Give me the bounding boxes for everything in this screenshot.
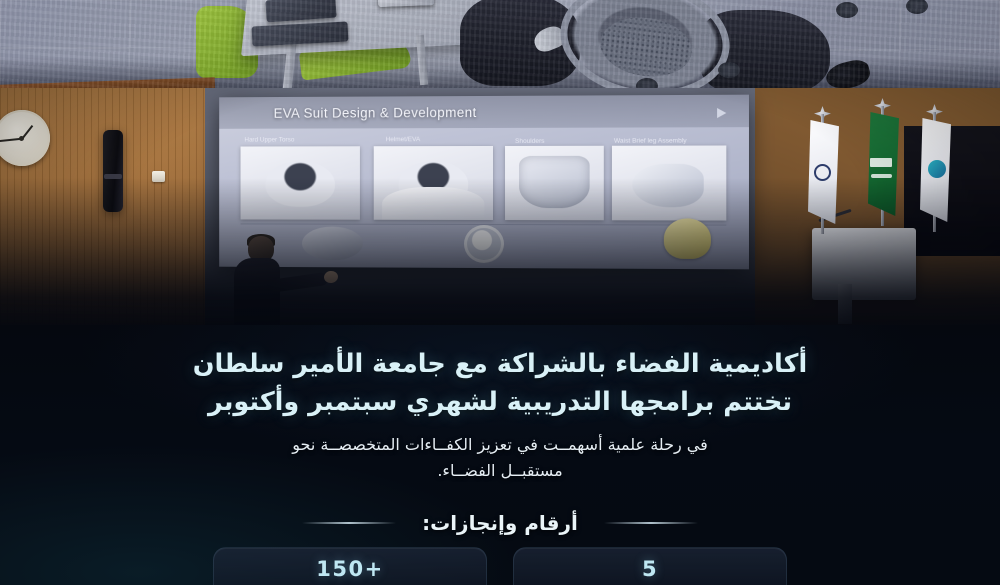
carpet-tile bbox=[900, 0, 1000, 50]
stat-card[interactable]: 150+ bbox=[213, 547, 487, 585]
chair-castor bbox=[836, 2, 858, 18]
stats-row: 5 150+ bbox=[0, 547, 1000, 585]
poster-canvas: EVA Suit Design & Development Hard Upper… bbox=[0, 0, 1000, 585]
chair-castor bbox=[906, 0, 928, 14]
chair-castor bbox=[718, 62, 740, 78]
stat-card[interactable]: 5 bbox=[513, 547, 787, 585]
subtitle: في رحلة علمية أسهمــت في تعزيز الكفــاءا… bbox=[0, 432, 1000, 484]
stats-section-title: أرقام وإنجازات: bbox=[422, 511, 578, 535]
office-chair-base bbox=[553, 0, 737, 95]
carpet-tile bbox=[130, 0, 260, 48]
subtitle-line-1: في رحلة علمية أسهمــت في تعزيز الكفــاءا… bbox=[0, 432, 1000, 458]
device-on-desk bbox=[252, 22, 349, 47]
headline: أكاديمية الفضاء بالشراكة مع جامعة الأمير… bbox=[0, 345, 1000, 421]
stat-value: 5 bbox=[642, 557, 658, 581]
sock bbox=[531, 23, 567, 55]
device-on-desk bbox=[265, 0, 336, 22]
stat-value: 150+ bbox=[316, 557, 383, 581]
desk-leg bbox=[416, 35, 428, 86]
desk-surface bbox=[241, 0, 484, 56]
heading-rule-right bbox=[604, 522, 698, 524]
chair-mesh-seat bbox=[596, 12, 695, 82]
photo-bottom-fade bbox=[0, 88, 1000, 338]
heading-rule-left bbox=[302, 522, 396, 524]
device-on-desk bbox=[378, 0, 434, 7]
carpet-tile bbox=[780, 0, 900, 50]
carpet-tile bbox=[0, 0, 130, 48]
subtitle-line-2: مستقبــل الفضــاء. bbox=[0, 458, 1000, 484]
content-section: أكاديمية الفضاء بالشراكة مع جامعة الأمير… bbox=[0, 325, 1000, 585]
seated-person-legs bbox=[460, 0, 580, 86]
top-photo-strip bbox=[0, 0, 1000, 95]
green-chair-back bbox=[299, 37, 412, 80]
stats-section-heading: أرقام وإنجازات: bbox=[0, 511, 1000, 535]
green-chair-seat bbox=[196, 6, 258, 78]
desk-leg bbox=[282, 40, 297, 95]
headline-line-2: تختتم برامجها التدريبية لشهري سبتمبر وأك… bbox=[0, 383, 1000, 421]
headline-line-1: أكاديمية الفضاء بالشراكة مع جامعة الأمير… bbox=[0, 345, 1000, 383]
seated-person-legs bbox=[700, 10, 830, 95]
